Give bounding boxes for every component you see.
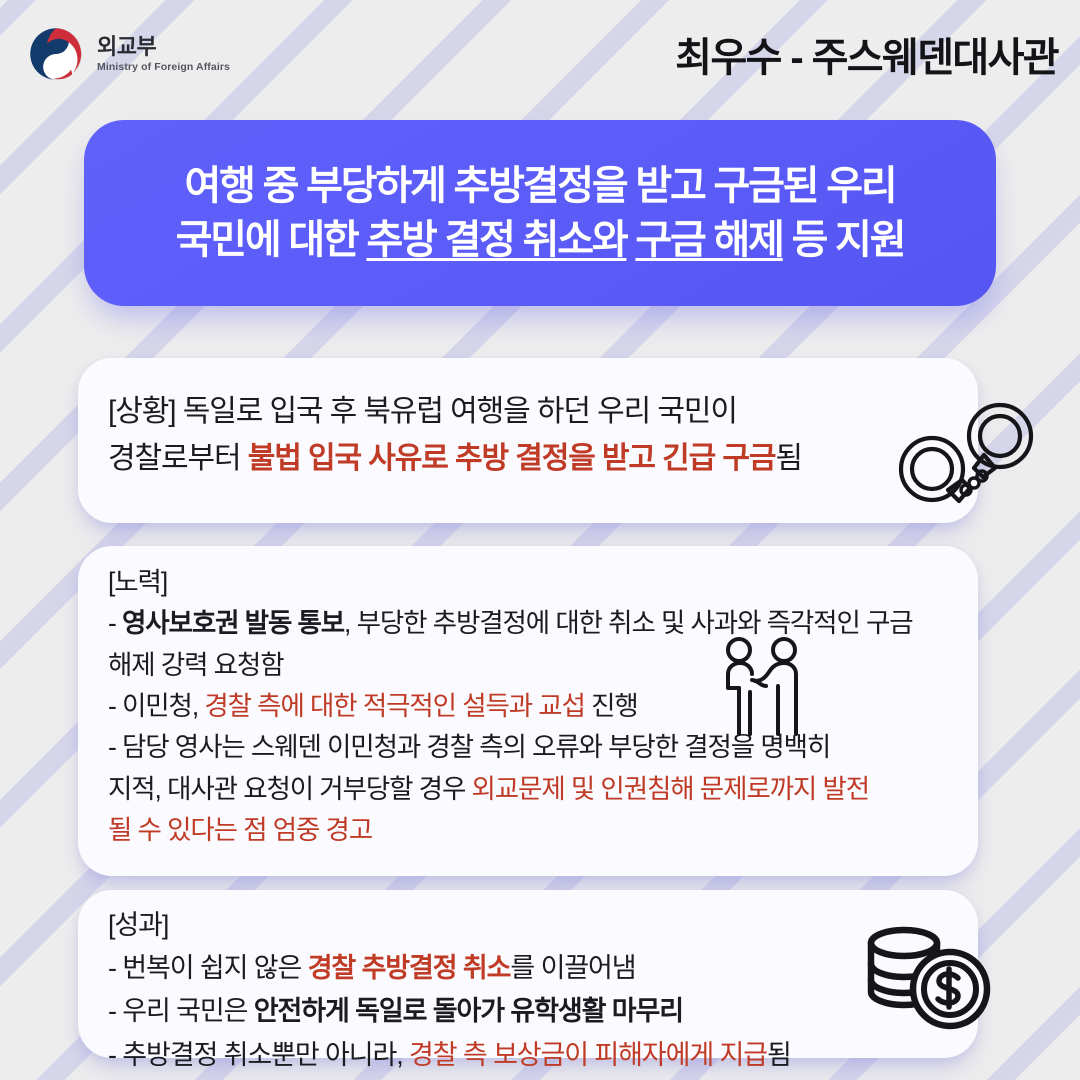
situation-line-2: 경찰로부터 불법 입국 사유로 추방 결정을 받고 긴급 구금됨	[108, 435, 948, 482]
result-card: [성과] - 번복이 쉽지 않은 경찰 추방결정 취소를 이끌어냄 - 우리 국…	[78, 890, 978, 1058]
result-line-1-pre: - 번복이 쉽지 않은	[108, 953, 308, 983]
result-heading: [성과]	[108, 904, 948, 947]
headline-line-2: 국민에 대한 추방 결정 취소와 구금 해제 등 지원	[176, 213, 905, 267]
situation-line-2-post: 됨	[775, 442, 802, 475]
effort-line-5-pre: 지적, 대사관 요청이 거부당할 경우	[108, 774, 472, 804]
effort-line-2: 해제 강력 요청함	[108, 645, 948, 686]
headline-line-1: 여행 중 부당하게 추방결정을 받고 구금된 우리	[185, 159, 896, 213]
result-line-3: - 추방결정 취소뿐만 아니라, 경찰 측 보상금이 피해자에게 지급됨	[108, 1034, 948, 1077]
coins-icon	[858, 926, 994, 1034]
effort-line-3-highlight: 경찰 측에 대한 적극적인 설득과 교섭	[204, 691, 585, 721]
effort-line-1-bold: 영사보호권 발동 통보	[122, 608, 344, 638]
situation-body: [상황] 독일로 입국 후 북유럽 여행을 하던 우리 국민이 경찰로부터 불법…	[78, 358, 978, 483]
effort-line-1-rest: , 부당한 추방결정에 대한 취소 및 사과와 즉각적인 구금	[344, 608, 913, 638]
effort-body: [노력] - 영사보호권 발동 통보, 부당한 추방결정에 대한 취소 및 사과…	[78, 546, 978, 851]
handcuffs-icon	[890, 400, 1040, 515]
result-line-1-post: 를 이끌어냄	[510, 953, 635, 983]
effort-line-3: - 이민청, 경찰 측에 대한 적극적인 설득과 교섭 진행	[108, 686, 948, 727]
result-body: [성과] - 번복이 쉽지 않은 경찰 추방결정 취소를 이끌어냄 - 우리 국…	[78, 890, 978, 1077]
result-line-3-pre: - 추방결정 취소뿐만 아니라,	[108, 1040, 409, 1070]
effort-line-6: 될 수 있다는 점 엄중 경고	[108, 810, 948, 851]
result-line-2-pre: - 우리 국민은	[108, 996, 254, 1026]
result-line-2: - 우리 국민은 안전하게 독일로 돌아가 유학생활 마무리	[108, 990, 948, 1033]
headline-line-2-pre: 국민에 대한	[176, 218, 367, 262]
effort-line-4: - 담당 영사는 스웨덴 이민청과 경찰 측의 오류와 부당한 결정을 명백히	[108, 727, 948, 768]
effort-line-5: 지적, 대사관 요청이 거부당할 경우 외교문제 및 인권침해 문제로까지 발전	[108, 769, 948, 810]
result-line-1: - 번복이 쉽지 않은 경찰 추방결정 취소를 이끌어냄	[108, 947, 948, 990]
situation-line-1: [상황] 독일로 입국 후 북유럽 여행을 하던 우리 국민이	[108, 388, 948, 435]
result-line-3-post: 됨	[767, 1040, 791, 1070]
headline-line-2-post: 등 지원	[783, 218, 905, 262]
mofa-brand: 외교부 Ministry of Foreign Affairs	[28, 26, 230, 82]
situation-line-2-pre: 경찰로부터	[108, 442, 248, 475]
handshake-icon	[706, 636, 820, 740]
result-line-2-bold: 안전하게 독일로 돌아가 유학생활 마무리	[254, 996, 683, 1026]
effort-heading: [노력]	[108, 562, 948, 603]
headline-underline-1: 추방 결정 취소와	[366, 218, 626, 262]
situation-card: [상황] 독일로 입국 후 북유럽 여행을 하던 우리 국민이 경찰로부터 불법…	[78, 358, 978, 523]
effort-line-3-pre: - 이민청,	[108, 691, 204, 721]
brand-name-english: Ministry of Foreign Affairs	[97, 62, 230, 73]
result-line-3-highlight: 경찰 측 보상금이 피해자에게 지급	[409, 1040, 767, 1070]
effort-card: [노력] - 영사보호권 발동 통보, 부당한 추방결정에 대한 취소 및 사과…	[78, 546, 978, 876]
page-header: 외교부 Ministry of Foreign Affairs 최우수 - 주스…	[0, 0, 1080, 108]
page-title: 최우수 - 주스웨덴대사관	[675, 25, 1058, 83]
effort-line-3-post: 진행	[585, 691, 638, 721]
brand-name-korean: 외교부	[97, 36, 230, 58]
headline-banner: 여행 중 부당하게 추방결정을 받고 구금된 우리 국민에 대한 추방 결정 취…	[84, 120, 996, 306]
situation-highlight: 불법 입국 사유로 추방 결정을 받고 긴급 구금	[248, 442, 776, 475]
result-line-1-highlight: 경찰 추방결정 취소	[308, 953, 511, 983]
headline-underline-2: 구금 해제	[635, 218, 782, 262]
effort-line-5-highlight: 외교문제 및 인권침해 문제로까지 발전	[472, 774, 870, 804]
effort-line-1-dash: -	[108, 608, 122, 638]
effort-line-1: - 영사보호권 발동 통보, 부당한 추방결정에 대한 취소 및 사과와 즉각적…	[108, 603, 948, 644]
taegeuk-logo-icon	[28, 26, 84, 82]
